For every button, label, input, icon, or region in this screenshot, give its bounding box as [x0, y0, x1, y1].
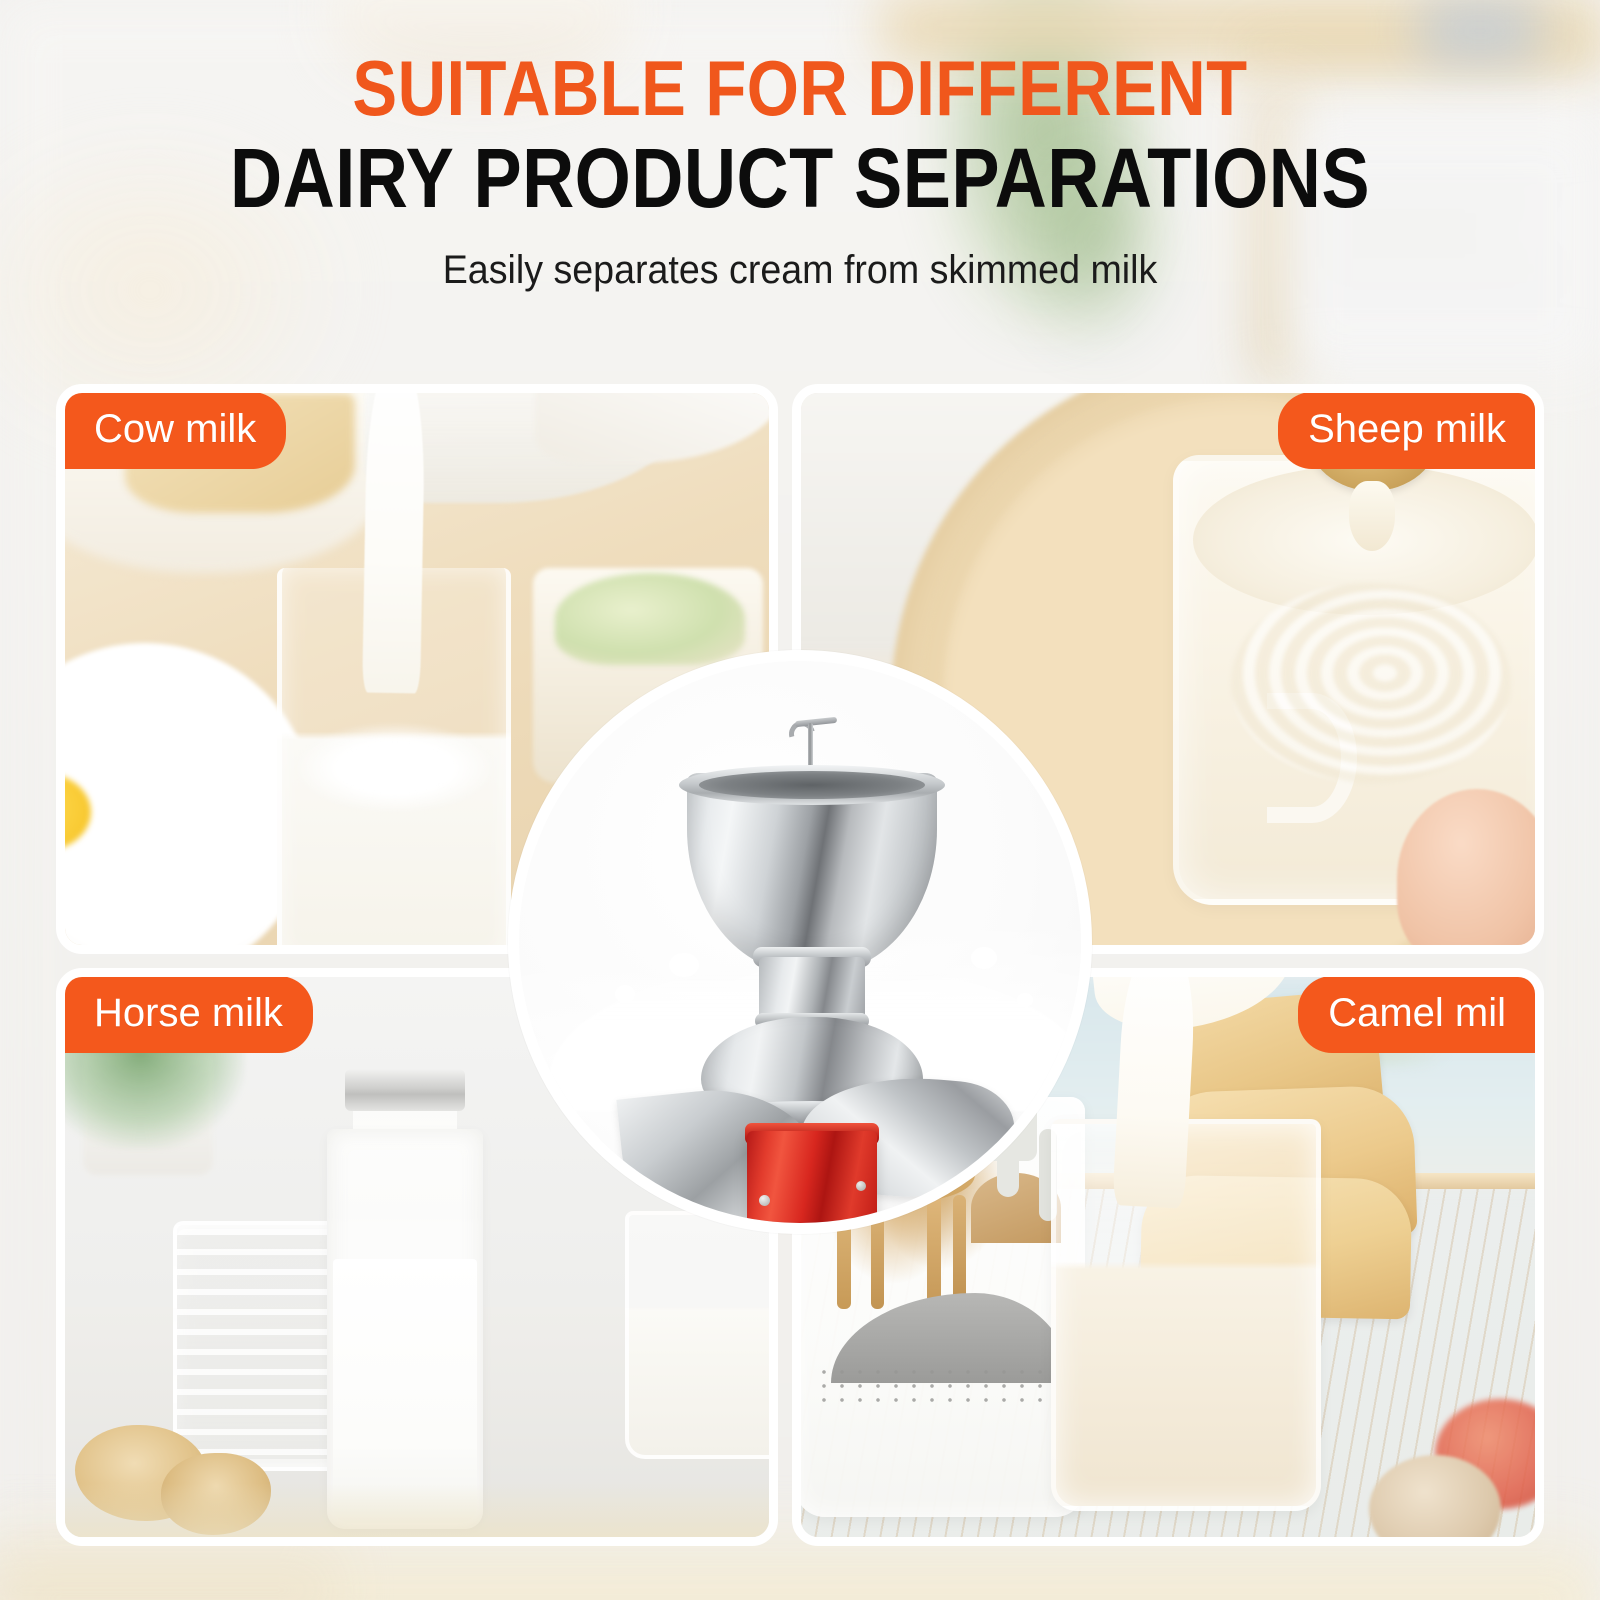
horse-bottom-warm-wash — [65, 1483, 769, 1537]
sheep-cream-swirl — [1231, 583, 1511, 783]
product-body-screw-left — [759, 1195, 770, 1206]
cow-salad-contents — [555, 573, 745, 665]
headline-bottom: DAIRY PRODUCT SEPARATIONS — [112, 139, 1488, 218]
camel-motif-leg-four — [953, 1195, 966, 1307]
milk-droplet-two — [1017, 993, 1033, 1007]
headline-top: SUITABLE FOR DIFFERENT — [112, 52, 1488, 125]
camel-milk-pour-stream — [1112, 977, 1198, 1209]
product-hook-arm — [795, 717, 837, 727]
horse-glass-of-milk — [625, 1211, 769, 1459]
milk-droplet-three — [615, 985, 635, 1003]
camel-glass-of-milk — [1051, 1119, 1321, 1511]
camel-motif-dot-band — [815, 1365, 1077, 1405]
badge-horse-milk: Horse milk — [64, 976, 313, 1053]
badge-sheep-milk: Sheep milk — [1278, 392, 1536, 469]
badge-cow-milk: Cow milk — [64, 392, 286, 469]
milk-droplet-one — [971, 947, 997, 969]
cow-milk-pour-stream — [362, 393, 426, 693]
horse-bottle-cap — [345, 1069, 465, 1111]
camel-motif-leg-three — [927, 1191, 941, 1309]
header: SUITABLE FOR DIFFERENT DAIRY PRODUCT SEP… — [0, 52, 1600, 293]
sheep-milk-drip — [1349, 481, 1395, 551]
milk-droplet-four — [669, 953, 699, 977]
horse-glass-ribbing — [177, 1229, 347, 1459]
badge-camel-milk: Camel mil — [1298, 976, 1536, 1053]
subtitle: Easily separates cream from skimmed milk — [48, 248, 1552, 293]
product-bowl-interior — [699, 771, 925, 799]
product-hero-circle[interactable]: VEVOR — [508, 650, 1092, 1234]
product-body-screw-right — [856, 1181, 866, 1191]
cow-milk-splash — [295, 723, 495, 813]
